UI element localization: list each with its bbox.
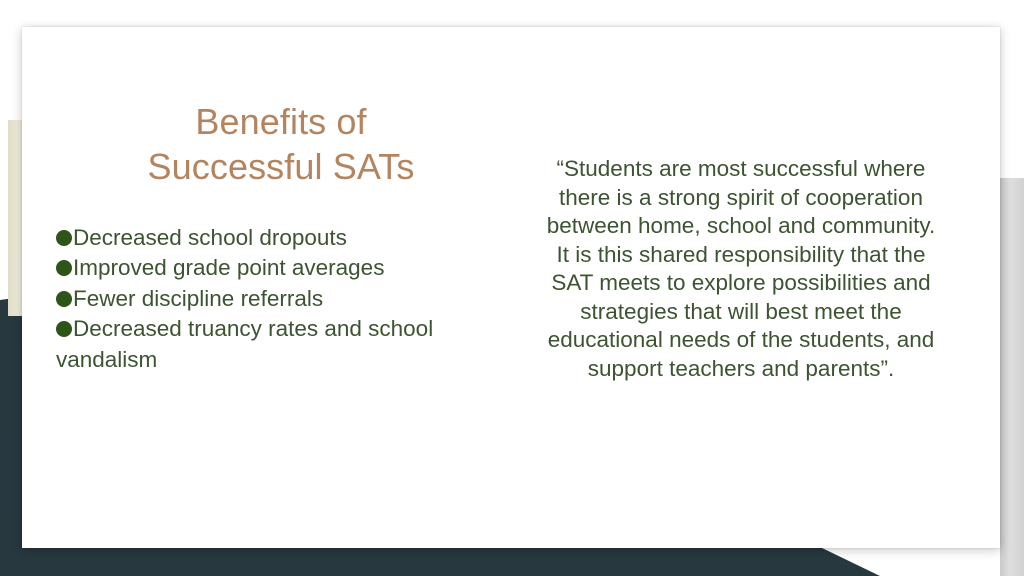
bullet-dot-icon [56, 260, 72, 276]
list-item: Fewer discipline referrals [56, 284, 506, 314]
benefits-bullet-list: Decreased school dropouts Improved grade… [56, 223, 506, 375]
slide-title-line-2: Successful SATs [78, 144, 484, 189]
left-content-column: Benefits of Successful SATs Decreased sc… [56, 99, 506, 375]
slide-title: Benefits of Successful SATs [56, 99, 506, 189]
list-item-label: Fewer discipline referrals [73, 286, 323, 311]
list-item-label: Improved grade point averages [73, 255, 384, 280]
list-item-label: Decreased truancy rates and school vanda… [56, 316, 433, 371]
presentation-slide: Benefits of Successful SATs Decreased sc… [0, 0, 1024, 576]
list-item: Improved grade point averages [56, 253, 506, 283]
bullet-dot-icon [56, 291, 72, 307]
quotation-text: “Students are most successful where ther… [546, 155, 936, 384]
list-item: Decreased school dropouts [56, 223, 506, 253]
bullet-dot-icon [56, 321, 72, 337]
grey-accent-strip [1000, 178, 1024, 576]
slide-content-area: Benefits of Successful SATs Decreased sc… [22, 27, 1000, 548]
list-item-label: Decreased school dropouts [73, 225, 347, 250]
list-item: Decreased truancy rates and school vanda… [56, 314, 506, 375]
bullet-dot-icon [56, 230, 72, 246]
right-content-column: “Students are most successful where ther… [546, 155, 936, 384]
slide-title-line-1: Benefits of [78, 99, 484, 144]
slide-content-card: Benefits of Successful SATs Decreased sc… [22, 27, 1000, 548]
